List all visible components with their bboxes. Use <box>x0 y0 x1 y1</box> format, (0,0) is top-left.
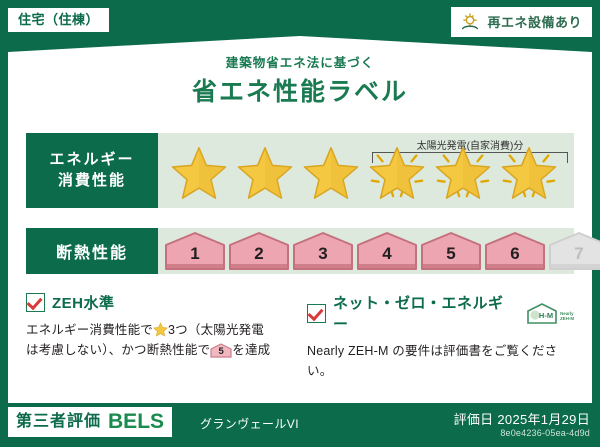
insulation-level-5: 5 <box>420 231 482 271</box>
star-6 <box>496 140 562 202</box>
insulation-level-3: 3 <box>292 231 354 271</box>
zeh-m-logo-icon: H-M Nearly ZEH-M <box>525 302 574 324</box>
zehm-caption-line2: ZEH-M <box>560 316 574 321</box>
zeh-header: ZEH水準 <box>26 292 293 313</box>
net-zero-energy-section: ネット・ゼロ・エネルギー H-M Nearly ZEH-M Nearly ZEH… <box>307 292 574 392</box>
label-subtitle: 建築物省エネ法に基づく <box>0 52 600 71</box>
netzero-header: ネット・ゼロ・エネルギー H-M Nearly ZEH-M <box>307 292 574 334</box>
building-type-badge: 住宅（住棟） <box>8 8 109 32</box>
insulation-level-value: 7 <box>574 244 583 271</box>
star-rating <box>158 133 574 208</box>
zeh-text-part2: は考慮しない）、かつ断熱性能で <box>26 343 210 357</box>
netzero-description: Nearly ZEH-M の要件は評価書をご覧ください。 <box>307 341 574 382</box>
insulation-level-7: 7 <box>548 231 600 271</box>
zeh-description: エネルギー消費性能で 3つ（太陽光発電 は考慮しない）、かつ断熱性能で 5 を達… <box>26 320 293 361</box>
energy-performance-label: エネルギー 消費性能 <box>26 133 158 208</box>
zeh-standard-section: ZEH水準 エネルギー消費性能で 3つ（太陽光発電 は考慮しない）、かつ断熱性能… <box>26 292 293 392</box>
star-5 <box>430 140 496 202</box>
criteria-columns: ZEH水準 エネルギー消費性能で 3つ（太陽光発電 は考慮しない）、かつ断熱性能… <box>26 292 574 392</box>
sun-icon <box>459 11 481 33</box>
insulation-level-6: 6 <box>484 231 546 271</box>
insulation-performance-body: 1234567 <box>158 228 574 274</box>
evaluation-id: 8e0e4236-05ea-4d9d <box>500 428 590 438</box>
insulation-level-value: 3 <box>318 244 327 271</box>
insulation-level-value: 1 <box>190 244 199 271</box>
zeh-title: ZEH水準 <box>52 292 115 313</box>
zeh-checkbox-checked-icon <box>26 293 45 312</box>
svg-text:H-M: H-M <box>539 311 553 320</box>
energy-performance-row: エネルギー 消費性能 太陽光発電(自家消費)分 <box>26 133 574 208</box>
netzero-checkbox-checked-icon <box>307 304 326 323</box>
insulation-level-scale: 1234567 <box>158 228 574 274</box>
page-title: 省エネ性能ラベル <box>0 72 600 108</box>
insulation-level-2: 2 <box>228 231 290 271</box>
bels-jp-label: 第三者評価 <box>16 414 101 430</box>
renewable-equipment-badge: 再エネ設備あり <box>451 7 592 37</box>
zeh-text-part3: を達成 <box>232 343 270 357</box>
insulation-level-value: 6 <box>510 244 519 271</box>
inline-house-badge: 5 <box>210 343 232 358</box>
energy-label-line1: エネルギー <box>49 150 134 170</box>
inline-star-icon <box>153 322 168 337</box>
insulation-level-value: 2 <box>254 244 263 271</box>
netzero-title: ネット・ゼロ・エネルギー <box>333 292 514 334</box>
building-name: グランヴェールVI <box>200 415 299 432</box>
star-3 <box>298 140 364 202</box>
label-footer: 第三者評価 BELS グランヴェールVI 評価日 2025年1月29日 8e0e… <box>0 403 600 447</box>
energy-label-line2: 消費性能 <box>58 171 126 191</box>
energy-label-card: 住宅（住棟） 再エネ設備あり 建築物省エネ法に基づく 省エネ性能ラベル エネルギ… <box>0 0 600 447</box>
zeh-text-part1: エネルギー消費性能で <box>26 323 153 337</box>
insulation-level-value: 5 <box>446 244 455 271</box>
bels-chip: 第三者評価 BELS <box>8 407 172 437</box>
renewable-badge-label: 再エネ設備あり <box>487 16 582 29</box>
insulation-performance-row: 断熱性能 1234567 <box>26 228 574 274</box>
inline-house-value: 5 <box>210 343 232 358</box>
insulation-level-4: 4 <box>356 231 418 271</box>
star-4 <box>364 140 430 202</box>
bels-en-label: BELS <box>108 411 164 432</box>
insulation-level-1: 1 <box>164 231 226 271</box>
star-1 <box>166 140 232 202</box>
star-2 <box>232 140 298 202</box>
insulation-performance-label: 断熱性能 <box>26 228 158 274</box>
zeh-star-count-text: 3つ（太陽光発電 <box>168 323 264 337</box>
evaluation-date: 評価日 2025年1月29日 <box>454 409 590 428</box>
insulation-level-value: 4 <box>382 244 391 271</box>
energy-performance-body: 太陽光発電(自家消費)分 <box>158 133 574 208</box>
